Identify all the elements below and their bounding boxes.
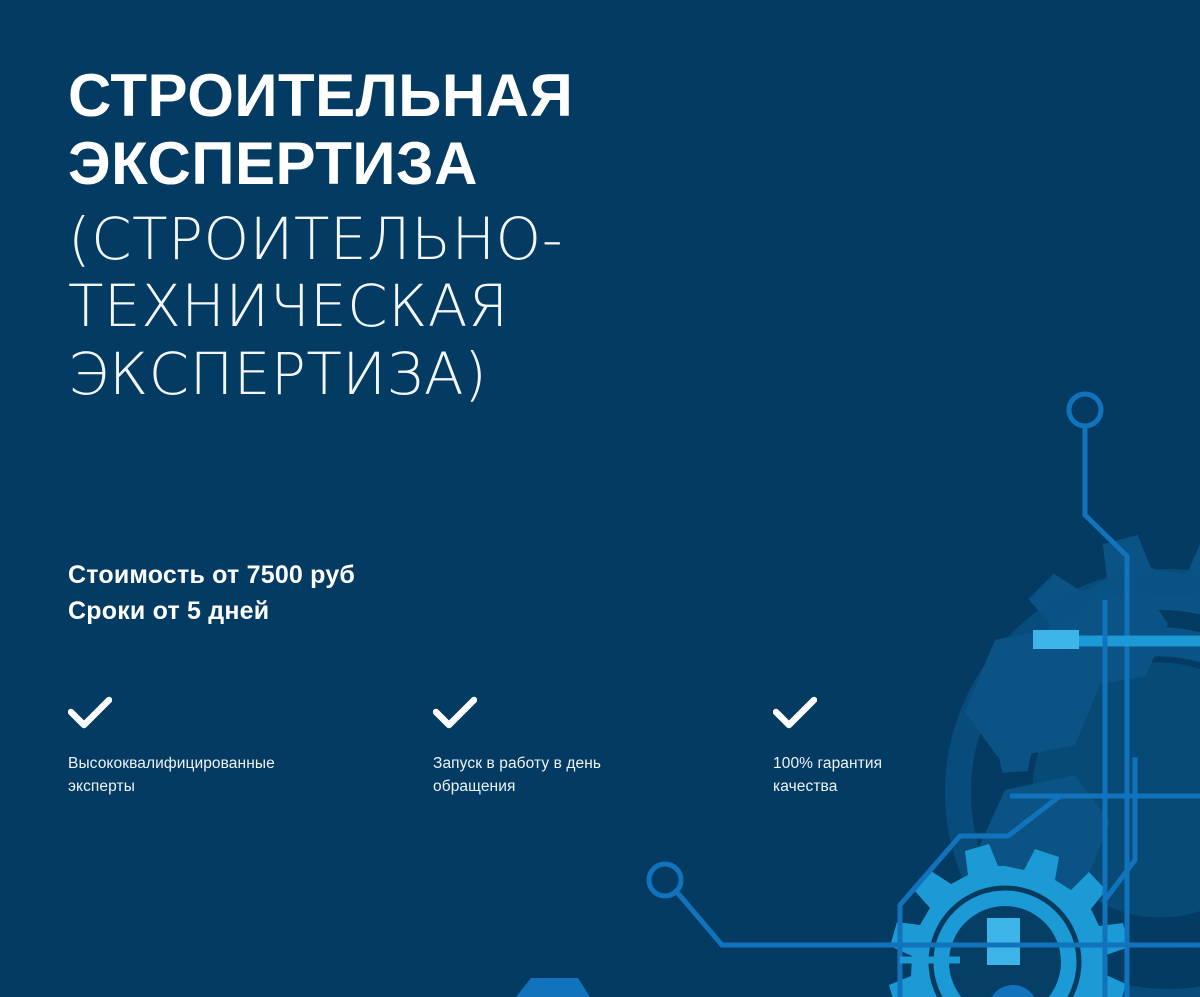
price-cost-line: Стоимость от 7500 руб bbox=[68, 558, 355, 594]
check-icon bbox=[68, 696, 112, 730]
price-block: Стоимость от 7500 руб Сроки от 5 дней bbox=[68, 558, 355, 629]
price-term-line: Сроки от 5 дней bbox=[68, 594, 355, 630]
page-subtitle: (СТРОИТЕЛЬНО- ТЕХНИЧЕСКАЯ ЭКСПЕРТИЗА) bbox=[68, 206, 768, 410]
feature-item-guarantee: 100% гарантия качества bbox=[773, 696, 882, 799]
feature-label-guarantee: 100% гарантия качества bbox=[773, 753, 882, 799]
page-title-line-2: ЭКСПЕРТИЗА bbox=[68, 130, 478, 197]
feature-item-experts: Высококвалифицированные эксперты bbox=[68, 696, 433, 799]
feature-item-sameday: Запуск в работу в день обращения bbox=[433, 696, 773, 799]
feature-label-sameday: Запуск в работу в день обращения bbox=[433, 753, 718, 799]
page-subtitle-line-2: ТЕХНИЧЕСКАЯ bbox=[68, 273, 768, 341]
page-subtitle-line-1: (СТРОИТЕЛЬНО- bbox=[68, 206, 768, 274]
hero-title-block: СТРОИТЕЛЬНАЯ ЭКСПЕРТИЗА (СТРОИТЕЛЬНО- ТЕ… bbox=[68, 62, 768, 409]
page-title-line-1: СТРОИТЕЛЬНАЯ bbox=[68, 62, 573, 129]
feature-list: Высококвалифицированные эксперты Запуск … bbox=[68, 696, 968, 799]
page-title: СТРОИТЕЛЬНАЯ ЭКСПЕРТИЗА bbox=[68, 62, 768, 198]
feature-label-experts: Высококвалифицированные эксперты bbox=[68, 753, 353, 799]
page-subtitle-line-3: ЭКСПЕРТИЗА) bbox=[68, 341, 768, 409]
check-icon bbox=[773, 696, 817, 730]
check-icon bbox=[433, 696, 477, 730]
